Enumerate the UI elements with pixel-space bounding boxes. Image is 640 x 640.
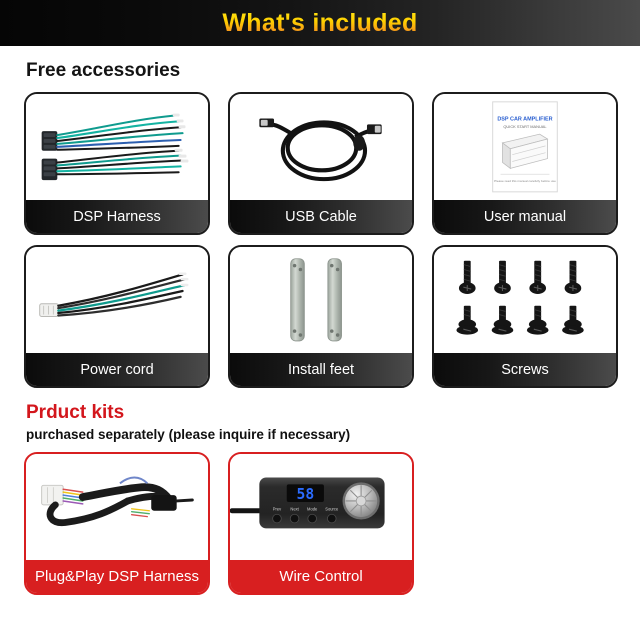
card-image-dsp-harness — [26, 94, 208, 202]
section-heading-free-accessories: Free accessories — [26, 60, 640, 82]
manual-cover-title: DSP CAR AMPLIFIER — [497, 116, 552, 122]
card-screws[interactable]: Screws — [432, 245, 618, 388]
card-image-wire-control: 58 Prev Next Mode Source — [230, 454, 412, 562]
card-dsp-harness[interactable]: DSP Harness — [24, 92, 210, 235]
power-cord-illustration — [26, 247, 208, 353]
card-label-screws: Screws — [434, 353, 616, 386]
section-subheading-product-kits: purchased separately (please inquire if … — [26, 427, 640, 442]
manual-cover-subtitle: QUICK START MANUAL — [503, 124, 547, 129]
card-label-power-cord: Power cord — [26, 353, 208, 386]
card-user-manual[interactable]: DSP CAR AMPLIFIER QUICK START MANUAL Ple… — [432, 92, 618, 235]
harness-illustration — [26, 94, 208, 200]
accessory-grid-row-2: Power cord — [0, 245, 640, 388]
wire-control-display-value: 58 — [297, 486, 315, 503]
wire-control-illustration: 58 Prev Next Mode Source — [230, 454, 412, 560]
usb-cable-illustration — [230, 94, 412, 200]
card-image-screws — [434, 247, 616, 355]
card-label-usb-cable: USB Cable — [230, 200, 412, 233]
card-label-wire-control: Wire Control — [230, 560, 412, 593]
card-label-user-manual: User manual — [434, 200, 616, 233]
card-image-pnp-dsp-harness — [26, 454, 208, 562]
card-placeholder-empty — [432, 452, 618, 595]
svg-text:Prev: Prev — [273, 507, 282, 512]
card-image-usb-cable — [230, 94, 412, 202]
card-label-install-feet: Install feet — [230, 353, 412, 386]
pnp-harness-illustration — [26, 454, 208, 560]
card-wire-control[interactable]: 58 Prev Next Mode Source — [228, 452, 414, 595]
install-foot-right — [328, 259, 342, 341]
svg-text:Next: Next — [290, 507, 299, 512]
card-label-pnp-dsp-harness: Plug&Play DSP Harness — [26, 560, 208, 593]
svg-text:Source: Source — [325, 507, 339, 512]
card-usb-cable[interactable]: USB Cable — [228, 92, 414, 235]
page-title: What's included — [222, 9, 417, 38]
card-image-power-cord — [26, 247, 208, 355]
install-feet-illustration — [230, 247, 412, 353]
card-power-cord[interactable]: Power cord — [24, 245, 210, 388]
card-image-user-manual: DSP CAR AMPLIFIER QUICK START MANUAL Ple… — [434, 94, 616, 202]
page-header: What's included — [0, 0, 640, 46]
card-pnp-dsp-harness[interactable]: Plug&Play DSP Harness — [24, 452, 210, 595]
screws-illustration — [434, 247, 616, 353]
kit-grid: Plug&Play DSP Harness — [0, 452, 640, 595]
manual-cover-footnote: Please read this manual carefully before… — [494, 179, 556, 183]
user-manual-illustration: DSP CAR AMPLIFIER QUICK START MANUAL Ple… — [434, 94, 616, 200]
install-foot-left — [291, 259, 305, 341]
card-image-install-feet — [230, 247, 412, 355]
card-install-feet[interactable]: Install feet — [228, 245, 414, 388]
section-heading-product-kits: Prduct kits — [26, 402, 640, 424]
accessory-grid-row-1: DSP Harness USB Cable — [0, 92, 640, 235]
svg-text:Mode: Mode — [307, 507, 318, 512]
card-label-dsp-harness: DSP Harness — [26, 200, 208, 233]
